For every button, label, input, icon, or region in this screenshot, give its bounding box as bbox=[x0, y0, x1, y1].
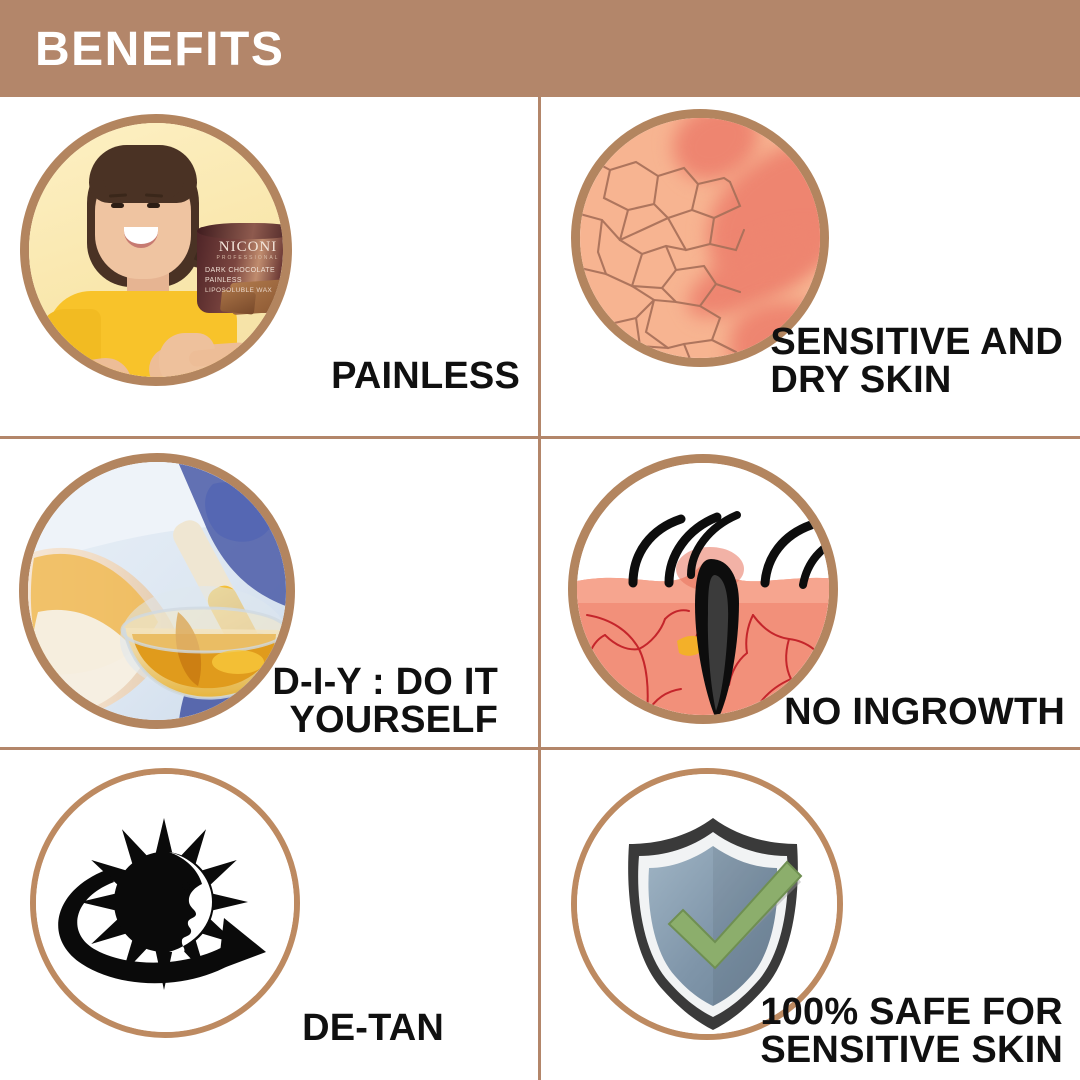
follicle-svg bbox=[577, 463, 838, 724]
benefit-cell-no-ingrowth[interactable]: NO INGROWTH bbox=[541, 439, 1079, 750]
product-brand: NICONI bbox=[197, 239, 292, 256]
benefit-cell-de-tan[interactable]: DE-TAN bbox=[0, 750, 538, 1080]
de-tan-icon-svg bbox=[36, 774, 300, 1038]
product-line-3: LIPOSOLUBLE WAX bbox=[205, 287, 272, 294]
sun-with-face-and-orbit-arrow-icon bbox=[30, 768, 300, 1038]
header-bar: BENEFITS bbox=[0, 0, 1080, 97]
benefit-label-painless: PAINLESS bbox=[331, 357, 520, 396]
woman-pointing-at-wax-tin-photo: NICONI PROFESSIONAL DARK CHOCOLATE PAINL… bbox=[20, 114, 292, 386]
benefit-cell-sensitive-and-dry-skin[interactable]: SENSITIVE AND DRY SKIN bbox=[541, 97, 1079, 408]
benefit-cell-diy[interactable]: D-I-Y : DO IT YOURSELF bbox=[0, 439, 538, 750]
product-line-1: DARK CHOCOLATE bbox=[205, 267, 275, 274]
page-title: BENEFITS bbox=[35, 26, 284, 74]
benefit-label-safe-for-sensitive-skin: 100% SAFE FOR SENSITIVE SKIN bbox=[760, 993, 1063, 1071]
benefit-label-de-tan: DE-TAN bbox=[302, 1009, 444, 1048]
product-brand-sub: PROFESSIONAL bbox=[197, 255, 292, 261]
hair-follicle-cross-section-illustration bbox=[568, 454, 838, 724]
benefit-cell-safe-for-sensitive-skin[interactable]: 100% SAFE FOR SENSITIVE SKIN bbox=[541, 750, 1079, 1080]
benefits-infographic: BENEFITS bbox=[0, 0, 1080, 1080]
product-line-2: PAINLESS bbox=[205, 277, 242, 284]
benefit-label-diy: D-I-Y : DO IT YOURSELF bbox=[272, 663, 498, 741]
benefit-cell-painless[interactable]: NICONI PROFESSIONAL DARK CHOCOLATE PAINL… bbox=[0, 97, 538, 408]
benefit-label-sensitive-and-dry-skin: SENSITIVE AND DRY SKIN bbox=[770, 323, 1063, 401]
waxing-bowl-spatula-photo bbox=[19, 453, 295, 729]
diy-waxing-photo-svg bbox=[28, 462, 295, 729]
benefits-grid: NICONI PROFESSIONAL DARK CHOCOLATE PAINL… bbox=[0, 97, 1080, 1080]
wax-tin-product: NICONI PROFESSIONAL DARK CHOCOLATE PAINL… bbox=[197, 219, 292, 319]
benefit-label-no-ingrowth: NO INGROWTH bbox=[784, 693, 1065, 732]
